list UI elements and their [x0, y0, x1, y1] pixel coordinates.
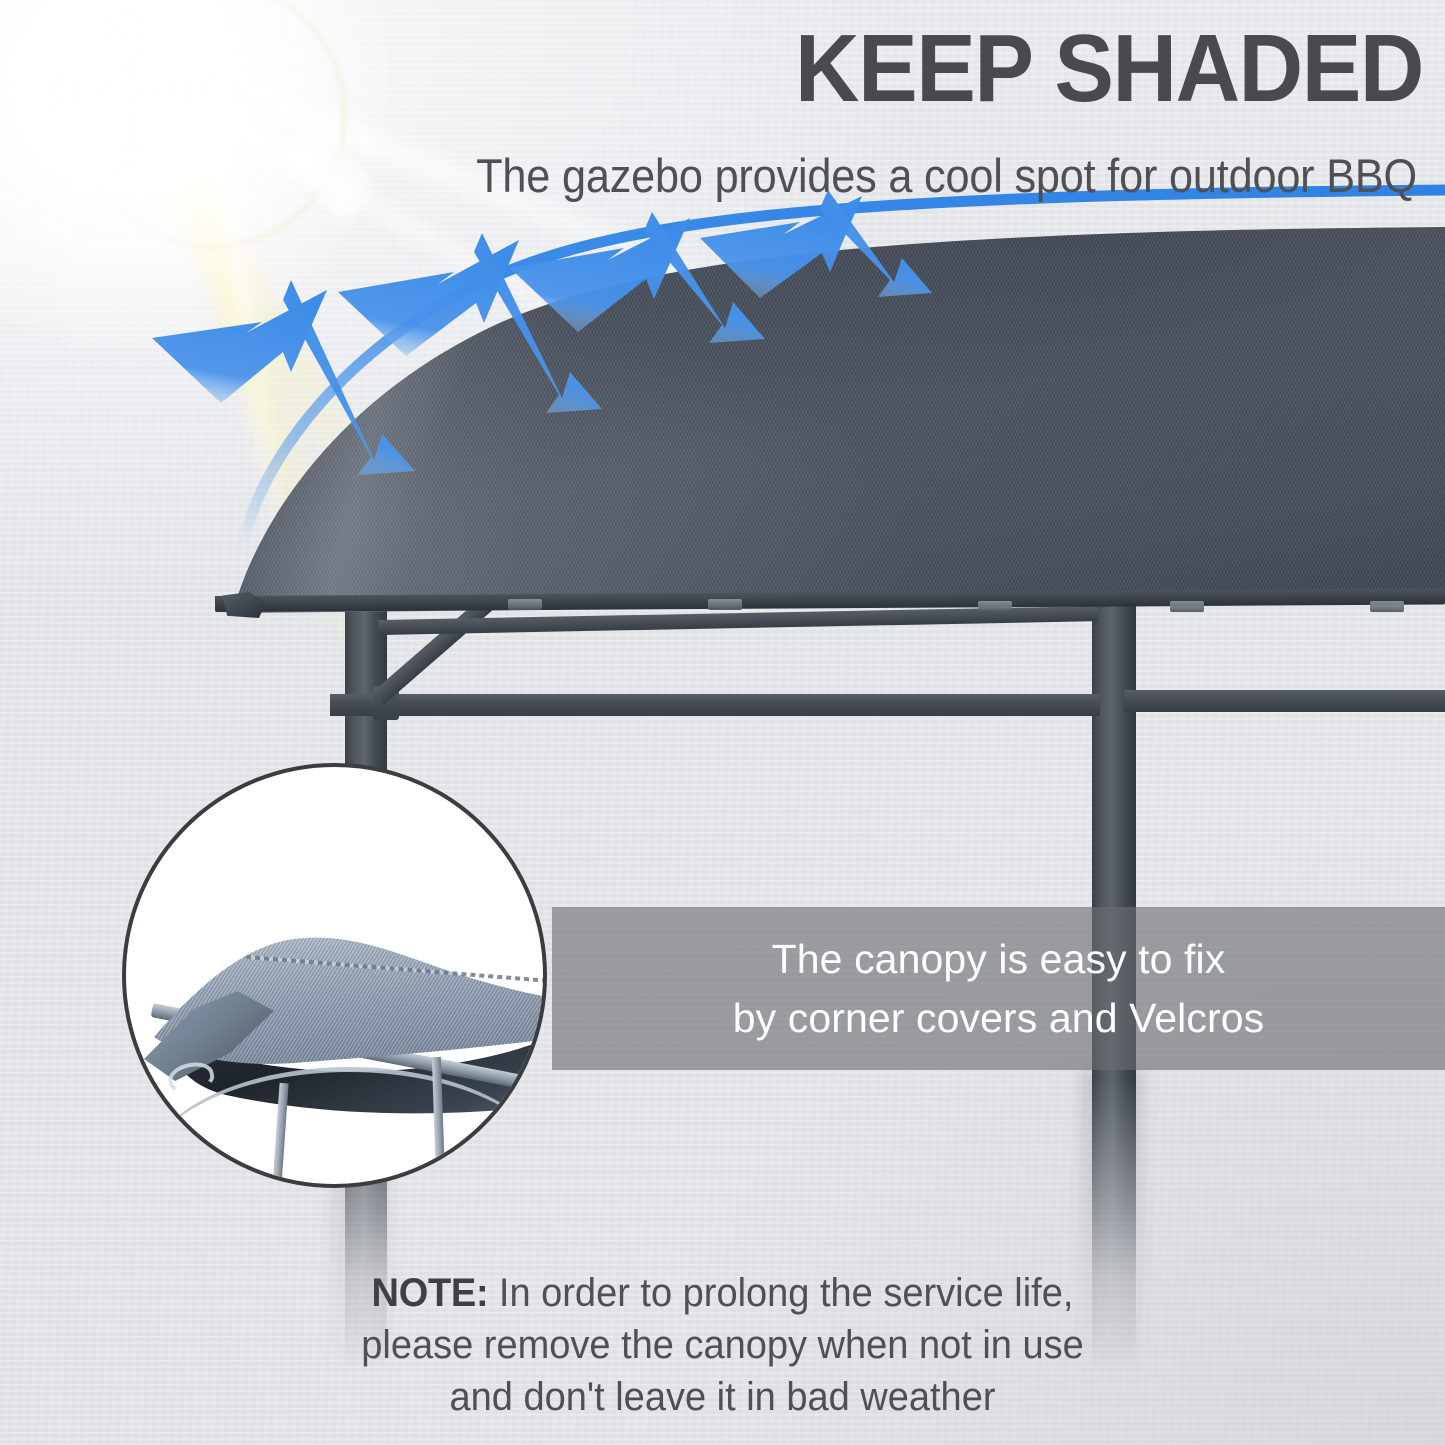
note-line-3: and don't leave it in bad weather: [36, 1371, 1409, 1423]
gazebo-cross-rail-right: [1124, 690, 1445, 712]
canopy-clip-tab: [978, 601, 1012, 612]
page-title: KEEP SHADED: [100, 14, 1423, 124]
gazebo-cross-rail-left: [330, 694, 1100, 716]
note-label: NOTE:: [372, 1271, 489, 1315]
canopy-clip-tab: [1370, 601, 1404, 612]
canopy-sheen: [195, 205, 1445, 625]
corner-cover-velcro-detail: [126, 767, 543, 1184]
canopy-clip-tab: [708, 599, 742, 610]
banner-line-2: by corner covers and Velcros: [733, 989, 1265, 1047]
note-line-2: please remove the canopy when not in use: [36, 1319, 1409, 1371]
note-line-1-text: In order to prolong the service life,: [488, 1271, 1073, 1315]
note-block: NOTE: In order to prolong the service li…: [0, 1267, 1445, 1423]
gazebo-canopy: [195, 205, 1445, 625]
detail-magnifier-circle: [122, 763, 547, 1188]
banner-line-1: The canopy is easy to fix: [772, 930, 1226, 988]
gazebo-illustration: [0, 0, 1445, 1445]
page-subtitle: The gazebo provides a cool spot for outd…: [113, 148, 1417, 203]
feature-banner: The canopy is easy to fix by corner cove…: [552, 907, 1445, 1070]
product-feature-panel: The canopy is easy to fix by corner cove…: [0, 0, 1445, 1445]
canopy-clip-tab: [1170, 601, 1204, 612]
canopy-clip-tab: [508, 599, 542, 610]
note-line-1: NOTE: In order to prolong the service li…: [36, 1267, 1409, 1319]
